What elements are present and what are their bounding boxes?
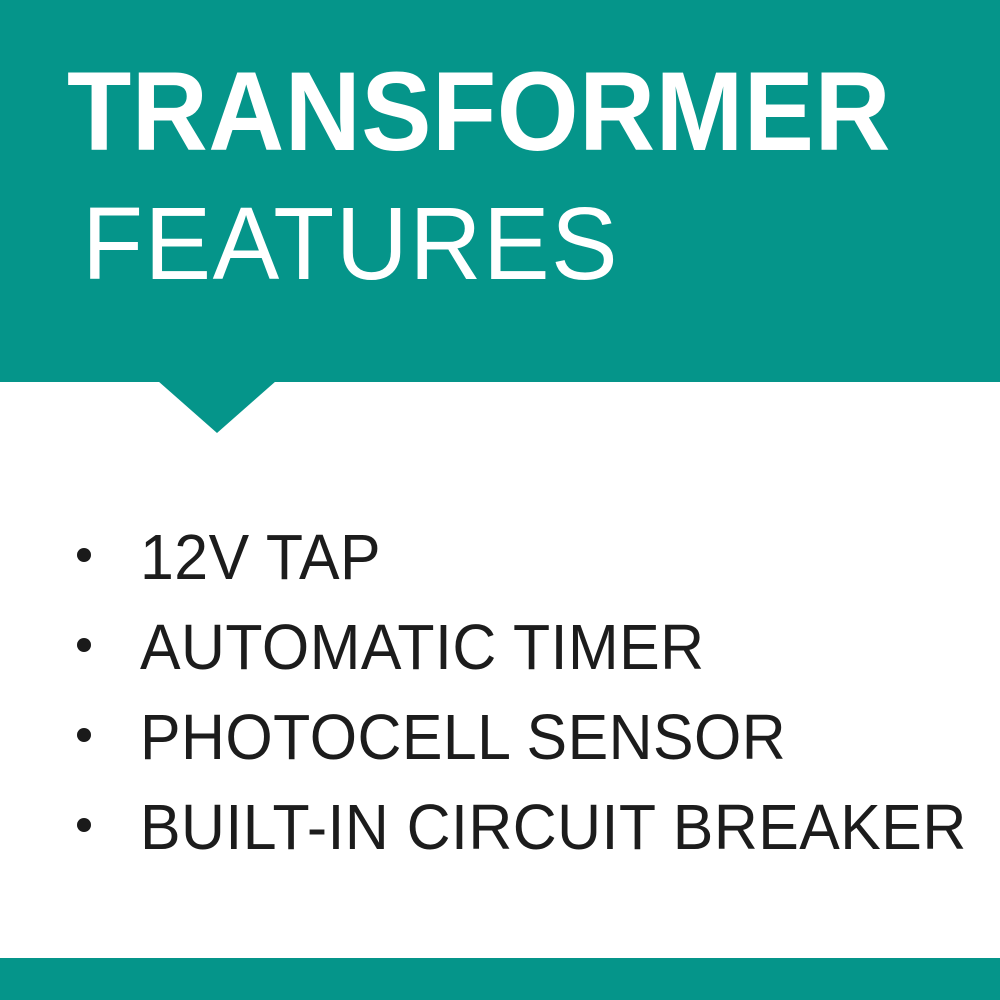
banner-pointer-triangle-icon bbox=[158, 381, 276, 433]
bullet-icon bbox=[77, 728, 91, 742]
feature-label: AUTOMATIC TIMER bbox=[140, 615, 704, 679]
list-item: PHOTOCELL SENSOR bbox=[0, 692, 1000, 782]
feature-label: PHOTOCELL SENSOR bbox=[140, 705, 786, 769]
page-title-secondary: FEATURES bbox=[82, 192, 619, 295]
footer-accent-bar bbox=[0, 958, 1000, 1000]
bullet-icon bbox=[77, 818, 91, 832]
features-list: 12V TAP AUTOMATIC TIMER PHOTOCELL SENSOR… bbox=[0, 512, 1000, 872]
list-item: 12V TAP bbox=[0, 512, 1000, 602]
list-item: AUTOMATIC TIMER bbox=[0, 602, 1000, 692]
bullet-icon bbox=[77, 548, 91, 562]
feature-label: BUILT-IN CIRCUIT BREAKER bbox=[140, 795, 967, 859]
list-item: BUILT-IN CIRCUIT BREAKER bbox=[0, 782, 1000, 872]
transformer-features-card: TRANSFORMER FEATURES 12V TAP AUTOMATIC T… bbox=[0, 0, 1000, 1000]
page-title-primary: TRANSFORMER bbox=[67, 56, 891, 168]
bullet-icon bbox=[77, 638, 91, 652]
feature-label: 12V TAP bbox=[140, 525, 381, 589]
header-banner: TRANSFORMER FEATURES bbox=[0, 0, 1000, 382]
